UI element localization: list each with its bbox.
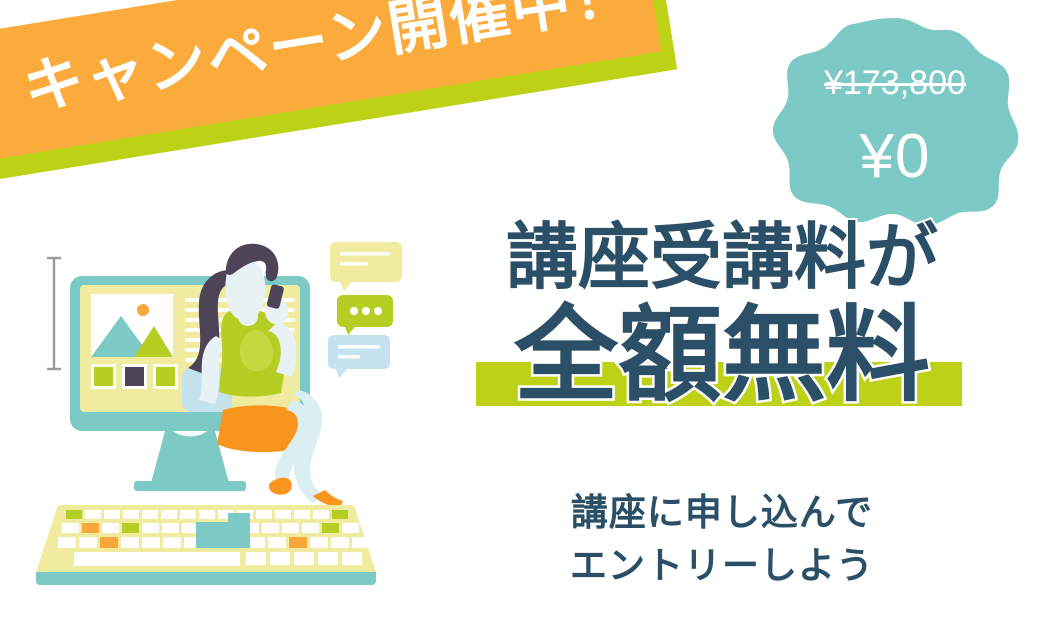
campaign-ribbon: キャンペーン開催中！	[0, 18, 680, 228]
bubble-green	[337, 295, 393, 335]
screen-swatch-3	[156, 367, 175, 386]
headline-line-1: 講座受講料が	[462, 222, 982, 294]
dimension-ruler-icon	[47, 258, 61, 369]
screen-sun-icon	[137, 304, 149, 316]
subtext-line-2: エントリーしよう	[462, 540, 982, 593]
headline-line-2: 全額無料	[462, 304, 982, 408]
computer-illustration	[30, 238, 450, 598]
headline-group: 講座受講料が 全額無料	[462, 222, 982, 412]
keyboard-base	[36, 572, 376, 585]
subtext-line-1: 講座に申し込んで	[462, 487, 982, 540]
headline-line-2-wrapper: 全額無料	[462, 304, 982, 412]
badge-scallop-shape	[770, 16, 1020, 228]
promo-banner: キャンペーン開催中！ ¥173,800 ¥0 講座受講料が 全額無料 講座に申し…	[0, 0, 1048, 629]
screen-swatch-1	[94, 367, 113, 386]
subtext-group: 講座に申し込んで エントリーしよう	[462, 487, 982, 592]
bubble-yellow	[330, 242, 402, 291]
bubble-blue	[328, 335, 390, 378]
screen-swatch-2	[125, 367, 144, 386]
woman-front-shoe	[269, 478, 292, 495]
keyboard-keys	[58, 510, 370, 566]
monitor-stand-base	[134, 481, 246, 491]
price-badge: ¥173,800 ¥0	[770, 16, 1020, 228]
ribbon-label: キャンペーン開催中！	[19, 0, 655, 119]
keyboard	[36, 505, 376, 585]
keyboard-spacebar	[74, 552, 240, 566]
monitor-stand	[151, 431, 229, 483]
